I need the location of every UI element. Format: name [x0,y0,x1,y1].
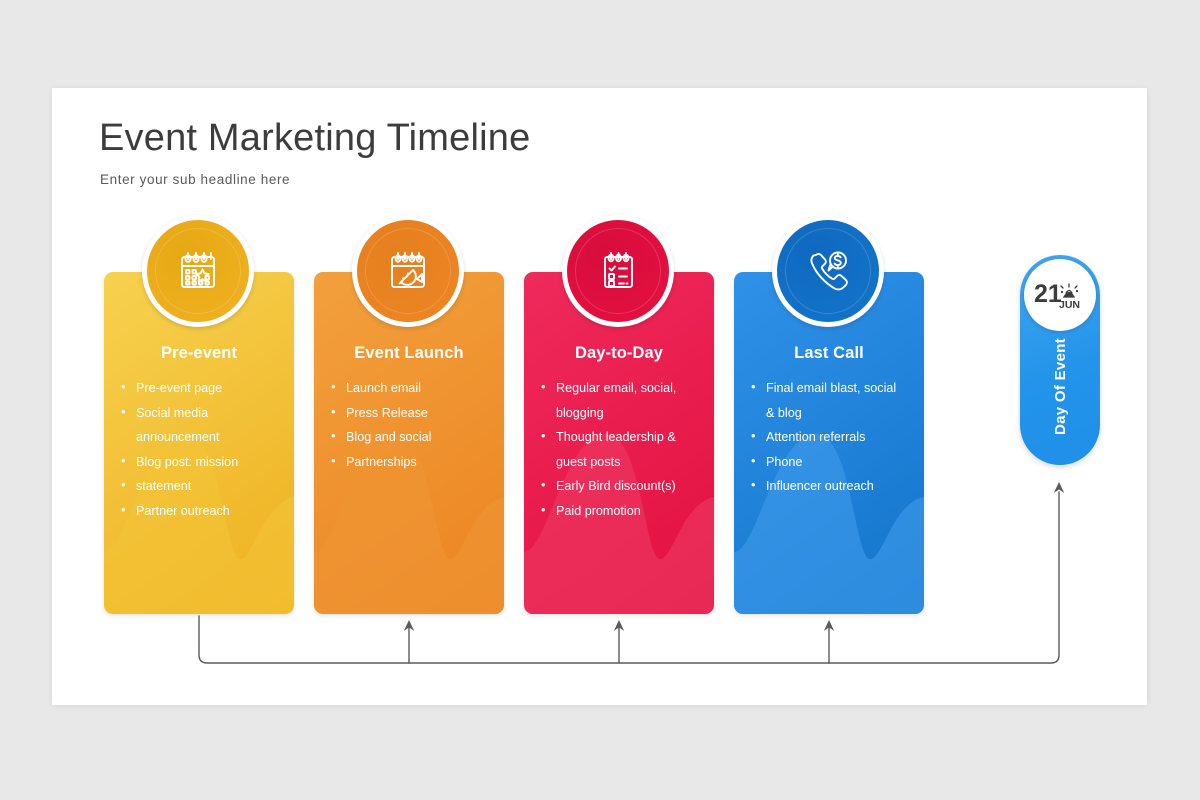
calendar-launch-icon [383,246,433,296]
card-title: Pre-event [104,344,294,363]
card-bullet-list: Regular email, social,bloggingThought le… [524,376,714,524]
list-item: Paid promotion [524,499,714,524]
svg-text:JUN: JUN [1059,299,1080,311]
list-item: Launch email [314,376,504,401]
card-title: Day-to-Day [524,344,714,363]
calendar-star-icon [173,246,223,296]
list-item: statement [104,474,294,499]
icon-disc [147,220,249,322]
list-item: Press Release [314,401,504,426]
phone-money-icon [802,245,854,297]
icon-disc [777,220,879,322]
page-subtitle: Enter your sub headline here [100,172,290,187]
card-icon-badge-2[interactable] [352,215,464,327]
list-item: Phone [734,450,924,475]
icon-disc [567,220,669,322]
card-bullet-list: Pre-event pageSocial mediaannouncementBl… [104,376,294,524]
list-item: Partner outreach [104,499,294,524]
party-celebration-icon: 21 JUN [1033,275,1087,315]
date-badge[interactable]: 21 JUN [1024,259,1096,331]
svg-text:21: 21 [1034,280,1062,308]
card-bullet-list: Final email blast, social& blogAttention… [734,376,924,499]
list-item: guest posts [524,450,714,475]
card-icon-badge-1[interactable] [142,215,254,327]
list-item: Partnerships [314,450,504,475]
list-item: Regular email, social, [524,376,714,401]
list-item: Social media [104,401,294,426]
list-item: & blog [734,401,924,426]
list-item: Pre-event page [104,376,294,401]
page-title: Event Marketing Timeline [99,117,530,160]
list-item: announcement [104,425,294,450]
list-item: Thought leadership & [524,425,714,450]
day-of-event-label: Day Of Event [1052,338,1069,435]
card-title: Event Launch [314,344,504,363]
slide-canvas: Event Marketing Timeline Enter your sub … [0,0,1200,800]
card-bullet-list: Launch emailPress ReleaseBlog and social… [314,376,504,474]
card-title: Last Call [734,344,924,363]
card-icon-badge-3[interactable] [562,215,674,327]
list-item: Blog post: mission [104,450,294,475]
list-item: Attention referrals [734,425,924,450]
list-item: Final email blast, social [734,376,924,401]
list-item: Blog and social [314,425,504,450]
card-icon-badge-4[interactable] [772,215,884,327]
checklist-icon [593,246,643,296]
icon-disc [357,220,459,322]
list-item: Early Bird discount(s) [524,474,714,499]
list-item: Influencer outreach [734,474,924,499]
list-item: blogging [524,401,714,426]
